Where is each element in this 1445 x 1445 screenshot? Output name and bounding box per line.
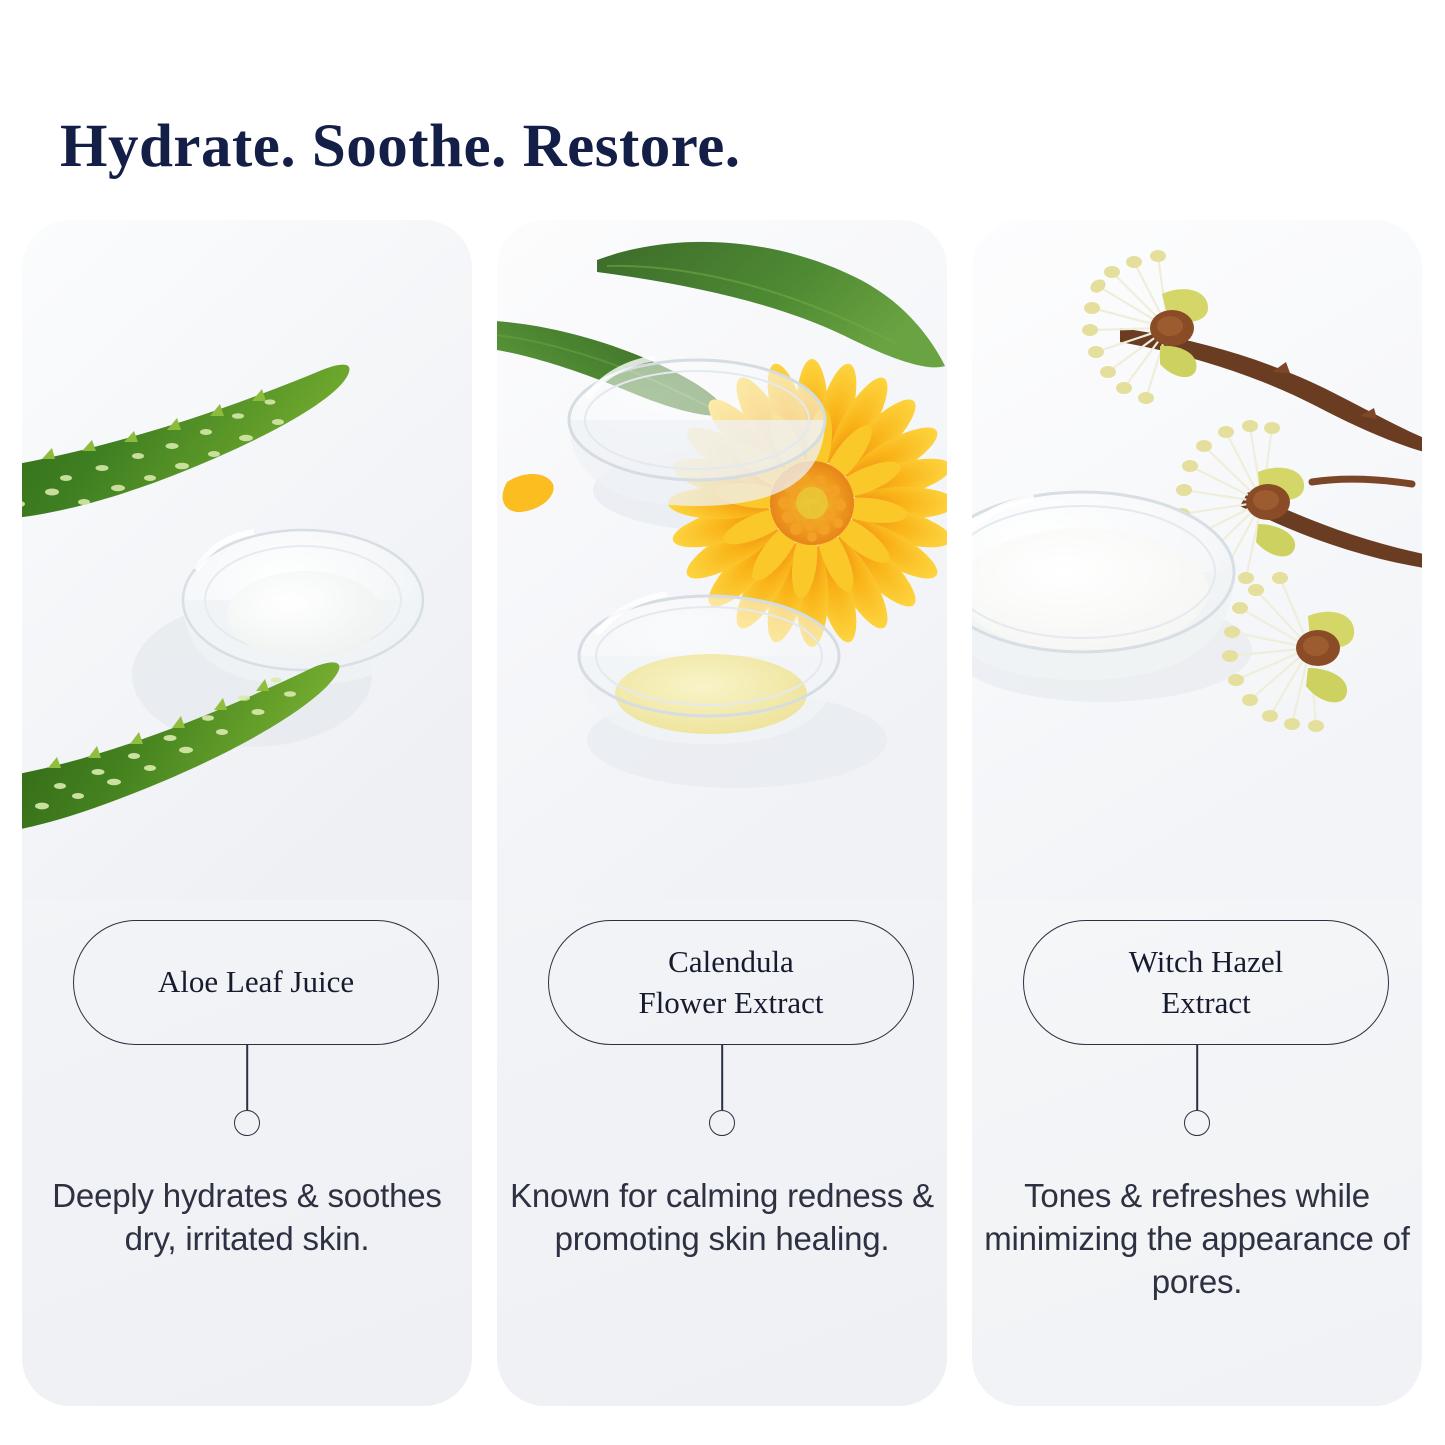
ingredient-column-aloe: Aloe Leaf Juice Deeply hydrates & soothe… xyxy=(22,220,472,1406)
ingredient-description: Deeply hydrates & soothes dry, irritated… xyxy=(32,1175,462,1261)
aloe-photo xyxy=(22,220,472,900)
pill-connector-line xyxy=(246,1045,248,1110)
ingredient-column-calendula: Calendula Flower Extract Known for calmi… xyxy=(497,220,947,1406)
ingredient-description: Tones & refreshes while minimizing the a… xyxy=(982,1175,1412,1304)
pill-connector-dot xyxy=(1184,1110,1210,1136)
ingredient-column-witch-hazel: Witch Hazel Extract Tones & refreshes wh… xyxy=(972,220,1422,1406)
glass-jar-icon xyxy=(183,530,423,685)
ingredient-label-pill[interactable]: Aloe Leaf Juice xyxy=(73,920,439,1045)
ingredient-infographic: Hydrate. Soothe. Restore. xyxy=(0,0,1445,1445)
ingredient-label-text: Aloe Leaf Juice xyxy=(140,962,372,1003)
petri-dish-icon xyxy=(569,358,825,506)
ingredient-card: Witch Hazel Extract Tones & refreshes wh… xyxy=(972,220,1422,1406)
ingredient-label-pill[interactable]: Calendula Flower Extract xyxy=(548,920,914,1045)
witch-hazel-photo xyxy=(972,220,1422,900)
petri-dish-icon xyxy=(579,594,839,744)
ingredient-label-pill[interactable]: Witch Hazel Extract xyxy=(1023,920,1389,1045)
pill-connector-line xyxy=(1196,1045,1198,1110)
calendula-photo xyxy=(497,220,947,900)
ingredient-label-text: Witch Hazel Extract xyxy=(1111,942,1302,1024)
ingredient-label-text: Calendula Flower Extract xyxy=(620,942,841,1024)
pill-connector-line xyxy=(721,1045,723,1110)
glass-dish-icon xyxy=(972,492,1234,680)
ingredient-description: Known for calming redness & promoting sk… xyxy=(507,1175,937,1261)
pill-connector-dot xyxy=(234,1110,260,1136)
ingredient-card: Aloe Leaf Juice Deeply hydrates & soothe… xyxy=(22,220,472,1406)
pill-connector-dot xyxy=(709,1110,735,1136)
ingredient-card: Calendula Flower Extract Known for calmi… xyxy=(497,220,947,1406)
ingredient-columns: Aloe Leaf Juice Deeply hydrates & soothe… xyxy=(0,0,1445,1445)
